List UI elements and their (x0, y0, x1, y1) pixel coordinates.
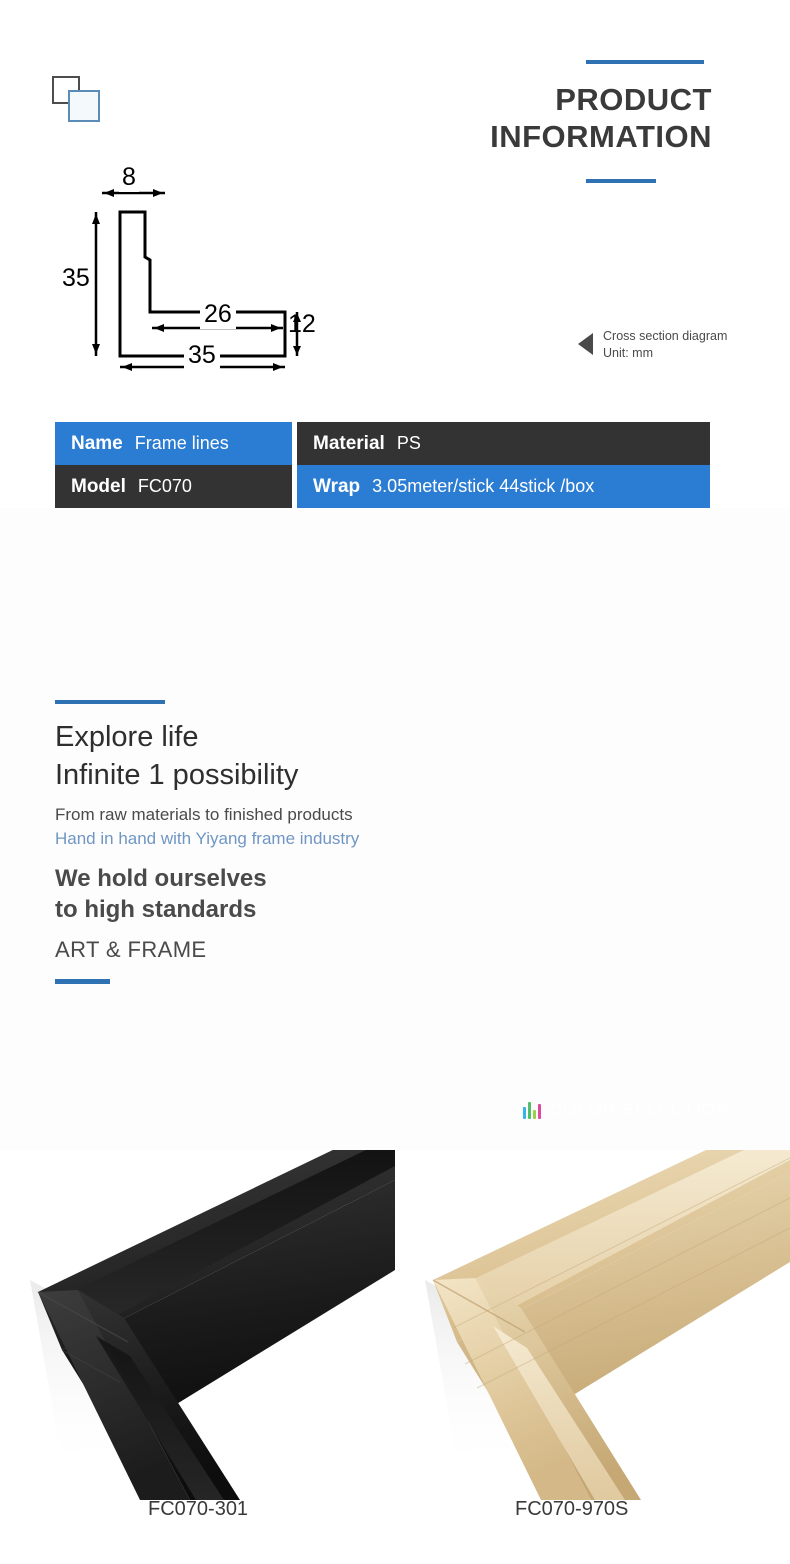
swatch-photo-black (0, 1150, 395, 1500)
logo-square-blue (68, 90, 100, 122)
table-row: Model FC070 Wrap 3.05meter/stick 44stick… (55, 465, 710, 508)
marketing-bold: We hold ourselves to high standards (55, 864, 475, 925)
cross-section-note-line2: Unit: mm (603, 345, 727, 362)
marketing-bold-line2: to high standards (55, 895, 475, 926)
swatch-photo-wood (395, 1150, 790, 1500)
copy-accent-bar-bottom (55, 979, 110, 984)
spec-key-name: Name (71, 433, 123, 455)
left-triangle-icon (578, 333, 593, 355)
spec-key-wrap: Wrap (313, 476, 360, 498)
cross-section-diagram: 8 35 26 12 35 (60, 160, 380, 375)
dimension-thickness: 12 (288, 310, 316, 339)
spec-key-model: Model (71, 476, 126, 498)
marketing-headline-line1: Explore life (55, 718, 475, 756)
marketing-sub1: From raw materials to finished products (55, 803, 475, 828)
cross-section-note: Cross section diagram Unit: mm (578, 328, 727, 361)
dimension-top-width: 8 (119, 163, 139, 192)
brand-logo-icon (52, 76, 108, 128)
spec-cell-model: Model FC070 (55, 465, 292, 508)
cross-section-drawing (60, 160, 380, 375)
marketing-copy: Explore life Infinite 1 possibility From… (55, 700, 475, 984)
color-bars-icon (523, 1102, 541, 1119)
spec-key-material: Material (313, 433, 385, 455)
spec-value-material: PS (397, 433, 421, 454)
hero-frame-photo: Explore life Infinite 1 possibility From… (0, 508, 790, 1180)
table-row: Name Frame lines Material PS (55, 422, 710, 465)
profile-outline (120, 212, 285, 356)
dimension-left-height: 35 (62, 264, 90, 293)
swatch-item-wood[interactable]: FC070-970S (395, 1150, 790, 1564)
black-frame-illustration (0, 1150, 395, 1500)
swatch-item-black[interactable]: FC070-301 (0, 1150, 395, 1564)
marketing-headline-line2: Infinite 1 possibility (55, 756, 475, 794)
header-accent-rule-top (586, 60, 704, 64)
swatch-caption-black: FC070-301 (0, 1498, 395, 1521)
spec-value-wrap: 3.05meter/stick 44stick /box (372, 476, 594, 497)
page-header: PRODUCT INFORMATION (382, 60, 712, 183)
spec-value-name: Frame lines (135, 433, 229, 454)
spec-cell-name: Name Frame lines (55, 422, 292, 465)
swatch-caption-wood: FC070-970S (395, 1498, 790, 1521)
spec-cell-material: Material PS (297, 422, 710, 465)
marketing-bold-line1: We hold ourselves (55, 864, 475, 895)
page-title-line2: INFORMATION (382, 119, 712, 156)
spec-value-model: FC070 (138, 476, 192, 497)
specification-table: Name Frame lines Material PS Model FC070… (55, 422, 710, 508)
page-title: PRODUCT INFORMATION (382, 82, 712, 155)
color-selection-tag: COLOR SELECTION (523, 1100, 730, 1120)
product-information-page: PRODUCT INFORMATION (0, 0, 790, 1564)
marketing-headline: Explore life Infinite 1 possibility (55, 718, 475, 795)
wood-frame-illustration (395, 1150, 790, 1500)
color-selection-label: COLOR SELECTION (550, 1100, 730, 1120)
dimension-inner-width: 26 (200, 300, 236, 329)
dimension-bottom-width: 35 (184, 341, 220, 370)
cross-section-note-line1: Cross section diagram (603, 328, 727, 345)
header-accent-rule-bottom (586, 179, 656, 183)
marketing-sub2: Hand in hand with Yiyang frame industry (55, 827, 475, 852)
copy-accent-bar-top (55, 700, 165, 704)
color-swatch-gallery: FC070-301 (0, 1150, 790, 1564)
marketing-art-frame: ART & FRAME (55, 937, 475, 963)
page-title-line1: PRODUCT (382, 82, 712, 119)
spec-cell-wrap: Wrap 3.05meter/stick 44stick /box (297, 465, 710, 508)
